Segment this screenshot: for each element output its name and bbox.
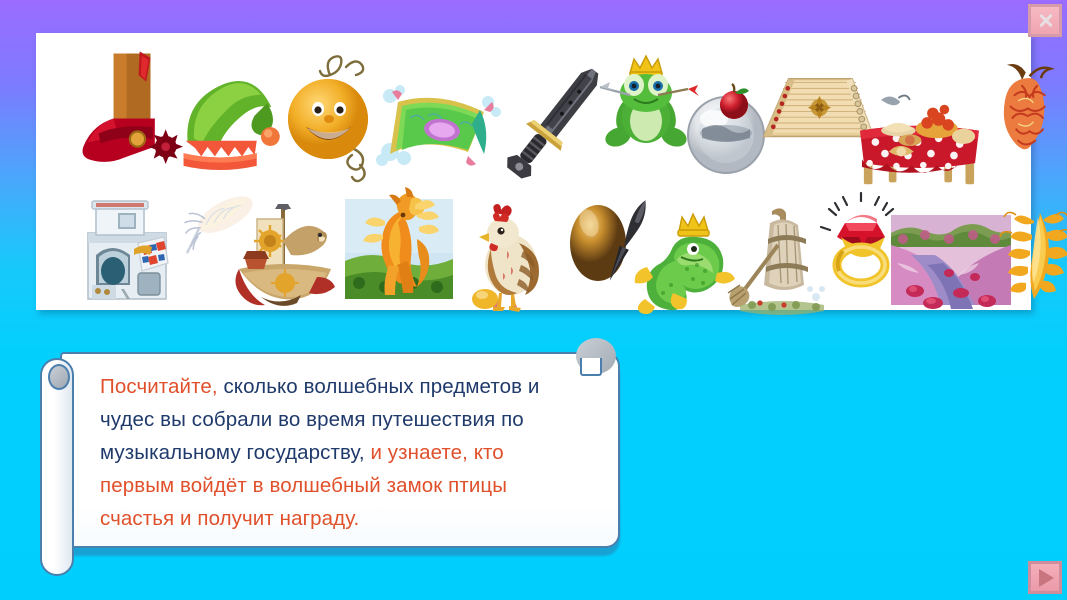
scroll-text-segment: чудес вы собрали во время путешествия по (100, 408, 524, 431)
gallery-item-flying-carpet (376, 61, 506, 181)
gallery-item-hen-ryaba (461, 203, 566, 313)
gallery-item-kolobok (276, 53, 386, 183)
gallery-row-1 (36, 39, 1031, 179)
gallery-item-ornate-apple (986, 61, 1067, 156)
scroll-text-segment: Посчитайте, (100, 375, 218, 398)
gallery-item-flying-ship (221, 197, 346, 317)
gallery-item-firebird-feather-gold (996, 205, 1067, 305)
scroll-text-segment: сколько волшебных предметов и (218, 375, 540, 398)
close-icon (1037, 12, 1054, 29)
gallery-item-milk-river (891, 215, 1011, 305)
scroll-text-line: музыкальному государству, и узнаете, кто (100, 436, 580, 469)
scroll-left-roll-cap (48, 364, 70, 390)
close-button[interactable] (1028, 4, 1062, 37)
scroll-right-fold (580, 358, 602, 376)
scroll-left-roll (40, 358, 74, 576)
scroll-text: Посчитайте, сколько волшебных предметов … (100, 370, 580, 535)
gallery-item-fire-horse (341, 191, 456, 306)
next-slide-button[interactable] (1028, 561, 1062, 594)
gallery-item-russian-stove (74, 193, 189, 308)
scroll-banner: Посчитайте, сколько волшебных предметов … (40, 352, 620, 552)
gallery-item-magic-hat (171, 69, 286, 179)
scroll-text-line: счастья и получит награду. (100, 502, 580, 535)
gallery-item-magic-table (846, 75, 991, 190)
image-gallery-panel (36, 33, 1031, 310)
slide-canvas: Посчитайте, сколько волшебных предметов … (0, 0, 1067, 600)
scroll-text-line: Посчитайте, сколько волшебных предметов … (100, 370, 580, 403)
play-next-icon (1039, 569, 1054, 587)
gallery-row-2 (36, 179, 1031, 307)
gallery-item-boot (76, 47, 186, 177)
scroll-text-segment: счастья и получит награду. (100, 507, 359, 530)
scroll-text-segment: и узнаете, кто (365, 441, 504, 464)
scroll-text-segment: музыкальному государству, (100, 441, 365, 464)
scroll-text-line: чудес вы собрали во время путешествия по (100, 403, 580, 436)
scroll-text-line: первым войдёт в волшебный замок птицы (100, 469, 580, 502)
scroll-text-segment: первым войдёт в волшебный замок птицы (100, 474, 507, 497)
